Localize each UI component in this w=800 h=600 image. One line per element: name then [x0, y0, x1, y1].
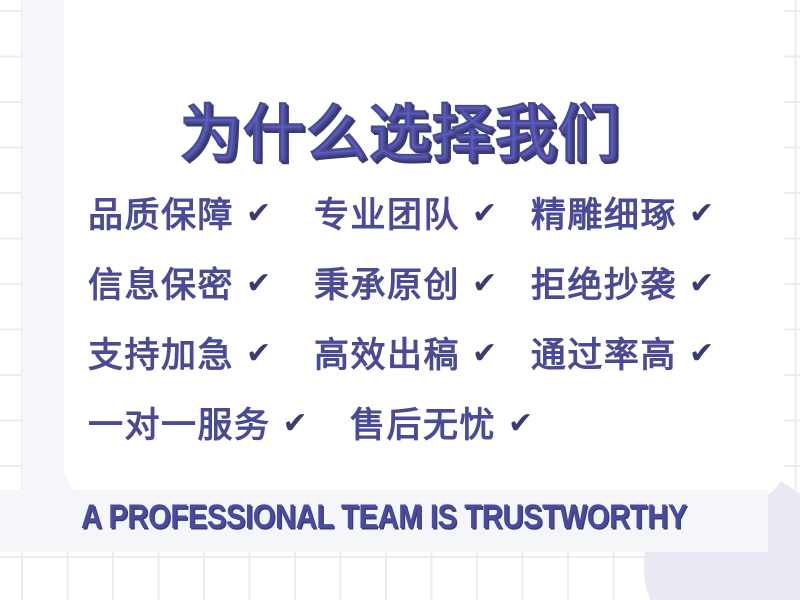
feature-item-quality-assurance: 品质保障 ✔ [88, 198, 314, 233]
feature-item-rush-support: 支持加急 ✔ [88, 338, 314, 373]
feature-item-one-on-one-service: 一对一服务 ✔ [88, 408, 328, 443]
promo-poster: 为什么选择我们 品质保障 ✔ 专业团队 ✔ 精雕细琢 ✔ 信息保密 [0, 0, 800, 600]
feature-item-original-work: 秉承原创 ✔ [314, 268, 531, 303]
feature-item-high-pass-rate: 通过率高 ✔ [531, 338, 730, 373]
check-icon: ✔ [472, 339, 499, 369]
feature-item-worry-free-aftersales: 售后无忧 ✔ [328, 408, 570, 443]
feature-label: 秉承原创 [314, 268, 460, 303]
check-icon: ✔ [472, 269, 499, 299]
check-icon: ✔ [508, 409, 535, 439]
check-icon: ✔ [689, 269, 716, 299]
feature-label: 售后无忧 [350, 408, 496, 443]
feature-label: 精雕细琢 [531, 198, 677, 233]
feature-label: 支持加急 [88, 338, 234, 373]
feature-list: 品质保障 ✔ 专业团队 ✔ 精雕细琢 ✔ 信息保密 ✔ 秉承原创 [88, 180, 730, 460]
check-icon: ✔ [246, 199, 273, 229]
feature-item-no-plagiarism: 拒绝抄袭 ✔ [531, 268, 730, 303]
feature-row: 信息保密 ✔ 秉承原创 ✔ 拒绝抄袭 ✔ [88, 250, 730, 320]
feature-label: 拒绝抄袭 [531, 268, 677, 303]
feature-row: 品质保障 ✔ 专业团队 ✔ 精雕细琢 ✔ [88, 180, 730, 250]
page-title: 为什么选择我们 [0, 104, 800, 166]
check-icon: ✔ [689, 199, 716, 229]
feature-item-fast-delivery: 高效出稿 ✔ [314, 338, 531, 373]
feature-row: 支持加急 ✔ 高效出稿 ✔ 通过率高 ✔ [88, 320, 730, 390]
footer-tagline: A PROFESSIONAL TEAM IS TRUSTWORTHY [54, 498, 714, 537]
feature-label: 高效出稿 [314, 338, 460, 373]
check-icon: ✔ [246, 339, 273, 369]
feature-item-confidentiality: 信息保密 ✔ [88, 268, 314, 303]
feature-label: 信息保密 [88, 268, 234, 303]
poster-content: 为什么选择我们 品质保障 ✔ 专业团队 ✔ 精雕细琢 ✔ 信息保密 [0, 0, 800, 600]
feature-item-professional-team: 专业团队 ✔ [314, 198, 531, 233]
check-icon: ✔ [283, 409, 310, 439]
check-icon: ✔ [246, 269, 273, 299]
feature-item-fine-craftsmanship: 精雕细琢 ✔ [531, 198, 730, 233]
check-icon: ✔ [472, 199, 499, 229]
feature-label: 一对一服务 [88, 408, 271, 443]
feature-row: 一对一服务 ✔ 售后无忧 ✔ [88, 390, 730, 460]
feature-label: 专业团队 [314, 198, 460, 233]
feature-label: 通过率高 [531, 338, 677, 373]
feature-label: 品质保障 [88, 198, 234, 233]
check-icon: ✔ [689, 339, 716, 369]
